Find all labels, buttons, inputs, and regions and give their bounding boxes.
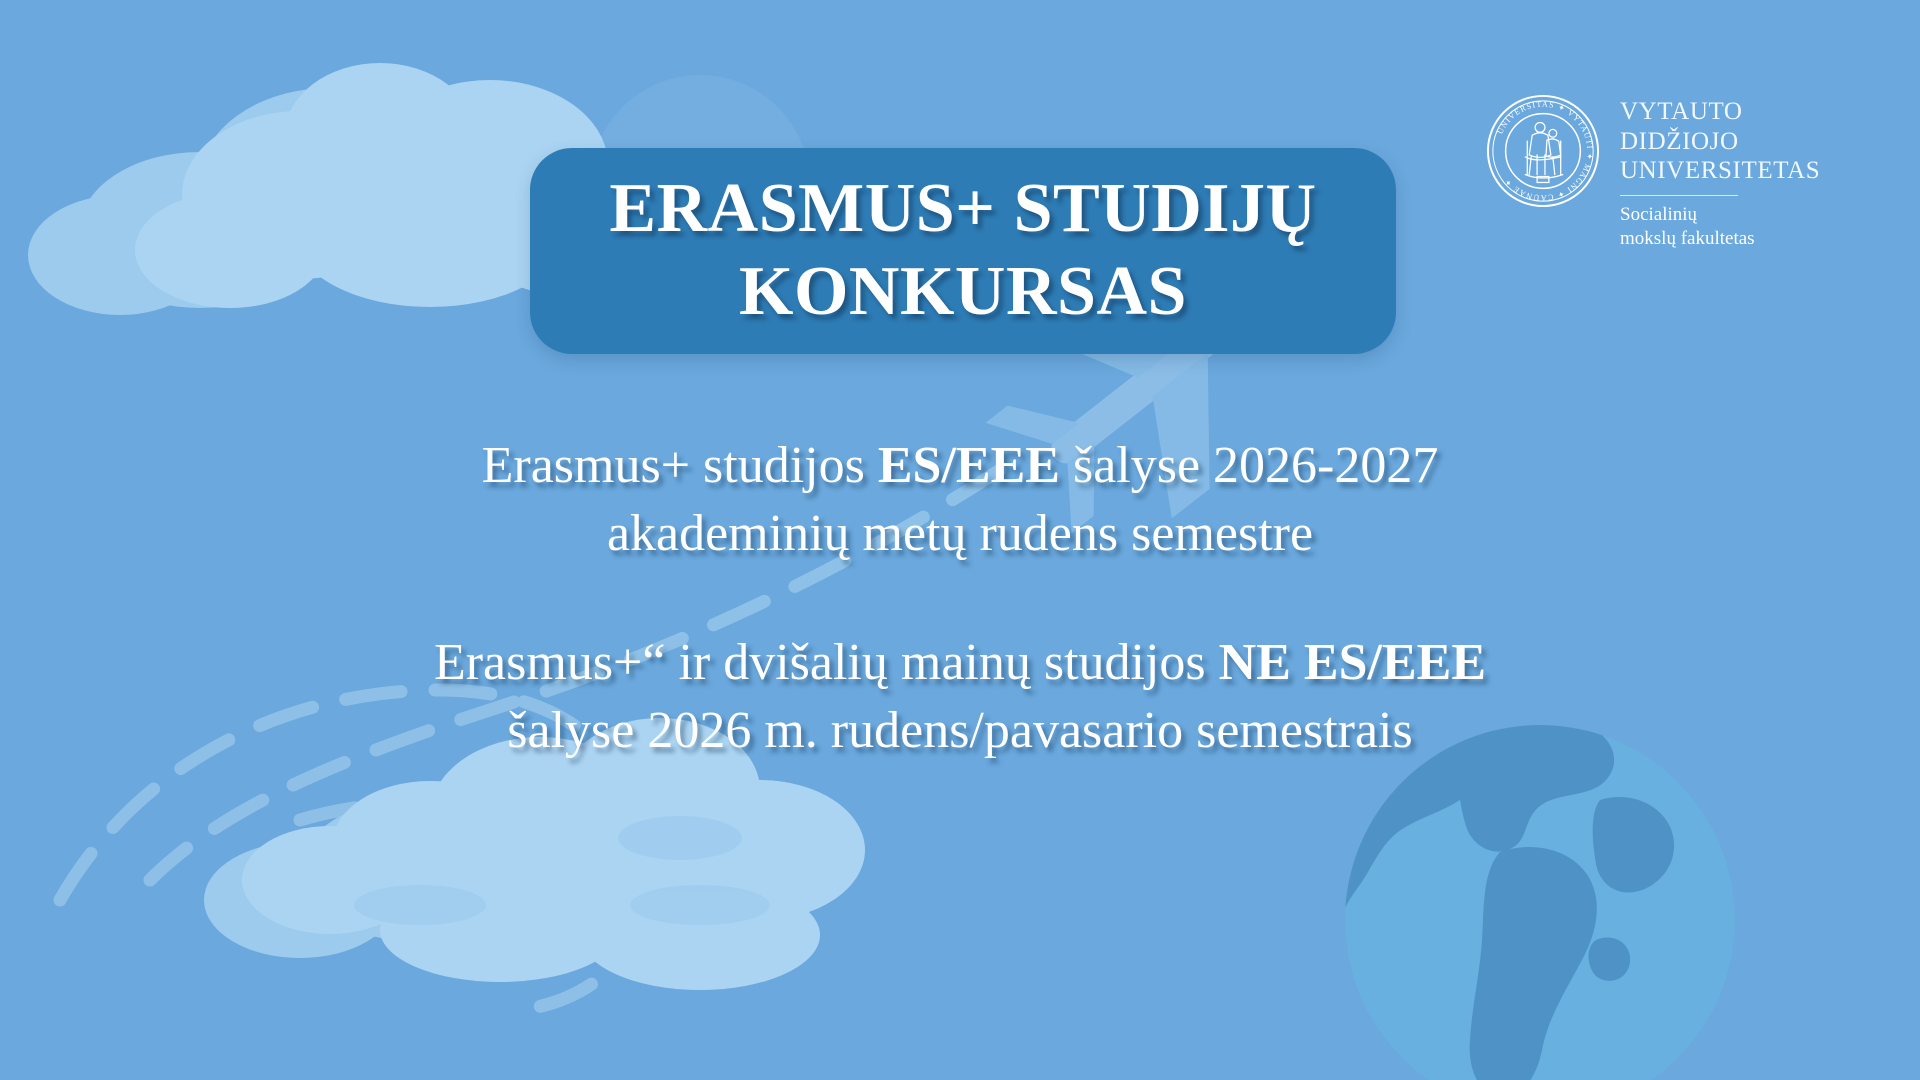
vdu-seal-icon: UNIVERSITAS ✦ VYTAUTI ✦ MAGNI ✦ CAUNAE ✦ <box>1484 92 1602 210</box>
p2-l1-bold: NE ES/EEE <box>1219 634 1486 691</box>
p1-l1-post: šalyse 2026-2027 <box>1060 437 1438 494</box>
title-line-2: KONKURSAS <box>739 253 1187 330</box>
logo-faculty-line-1: Socialinių <box>1620 203 1820 227</box>
paragraph-2-line-2: šalyse 2026 m. rudens/pavasario semestra… <box>220 697 1700 765</box>
paragraph-2-line-1: Erasmus+“ ir dvišalių mainų studijos NE … <box>220 629 1700 697</box>
title-line-1: ERASMUS+ STUDIJŲ <box>609 170 1316 247</box>
paragraph-1-line-1: Erasmus+ studijos ES/EEE šalyse 2026-202… <box>220 432 1700 500</box>
svg-text:UNIVERSITAS ✦ VYTAUTI ✦ MAGNI: UNIVERSITAS ✦ VYTAUTI ✦ MAGNI ✦ CAUNAE ✦ <box>1495 100 1594 203</box>
logo-name-line-1: VYTAUTO <box>1620 97 1820 127</box>
logo-name-line-2: DIDŽIOJO <box>1620 127 1820 157</box>
paragraph-1-line-2: akademinių metų rudens semestre <box>220 500 1700 568</box>
slide-canvas: ERASMUS+ STUDIJŲ KONKURSAS Erasmus+ stud… <box>0 0 1920 1080</box>
p2-l1-pre: Erasmus+“ ir dvišalių mainų studijos <box>434 634 1219 691</box>
p1-l1-bold: ES/EEE <box>878 437 1060 494</box>
page-title: ERASMUS+ STUDIJŲ KONKURSAS <box>583 168 1342 333</box>
logo-name-line-3: UNIVERSITETAS <box>1620 156 1820 186</box>
logo-divider <box>1620 195 1738 196</box>
p1-l1-pre: Erasmus+ studijos <box>482 437 878 494</box>
paragraph-2: Erasmus+“ ir dvišalių mainų studijos NE … <box>0 629 1920 764</box>
vdu-logo-text: VYTAUTO DIDŽIOJO UNIVERSITETAS Socialini… <box>1620 92 1820 251</box>
logo-faculty-line-2: mokslų fakultetas <box>1620 227 1820 251</box>
paragraph-1: Erasmus+ studijos ES/EEE šalyse 2026-202… <box>0 432 1920 567</box>
body-text-block: Erasmus+ studijos ES/EEE šalyse 2026-202… <box>0 432 1920 764</box>
vdu-logo: UNIVERSITAS ✦ VYTAUTI ✦ MAGNI ✦ CAUNAE ✦… <box>1484 92 1820 251</box>
title-banner: ERASMUS+ STUDIJŲ KONKURSAS <box>530 148 1396 354</box>
